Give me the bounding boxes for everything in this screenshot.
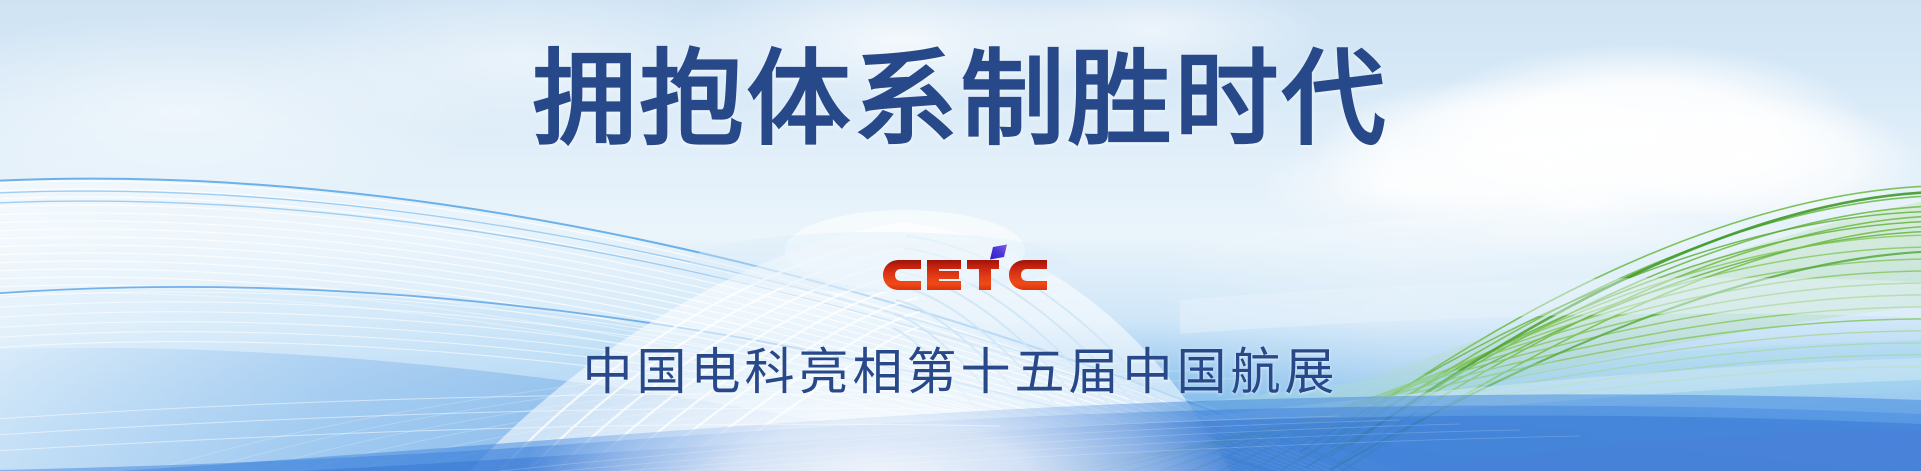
cetc-letter-c1 xyxy=(883,260,921,290)
page-subtitle: 中国电科亮相第十五届中国航展 xyxy=(0,342,1921,402)
cetc-logo xyxy=(881,244,1049,306)
cetc-logo-icon xyxy=(881,244,1049,306)
cetc-letter-e xyxy=(927,260,961,290)
logo-backdrop-glow xyxy=(430,130,1330,471)
cetc-letter-t xyxy=(967,260,999,290)
cetc-airshow-banner: 拥抱体系制胜时代 xyxy=(0,0,1921,471)
cetc-letter-c2 xyxy=(1009,260,1047,290)
cetc-accent-diamond-icon xyxy=(990,245,1007,260)
page-title: 拥抱体系制胜时代 xyxy=(0,42,1921,158)
